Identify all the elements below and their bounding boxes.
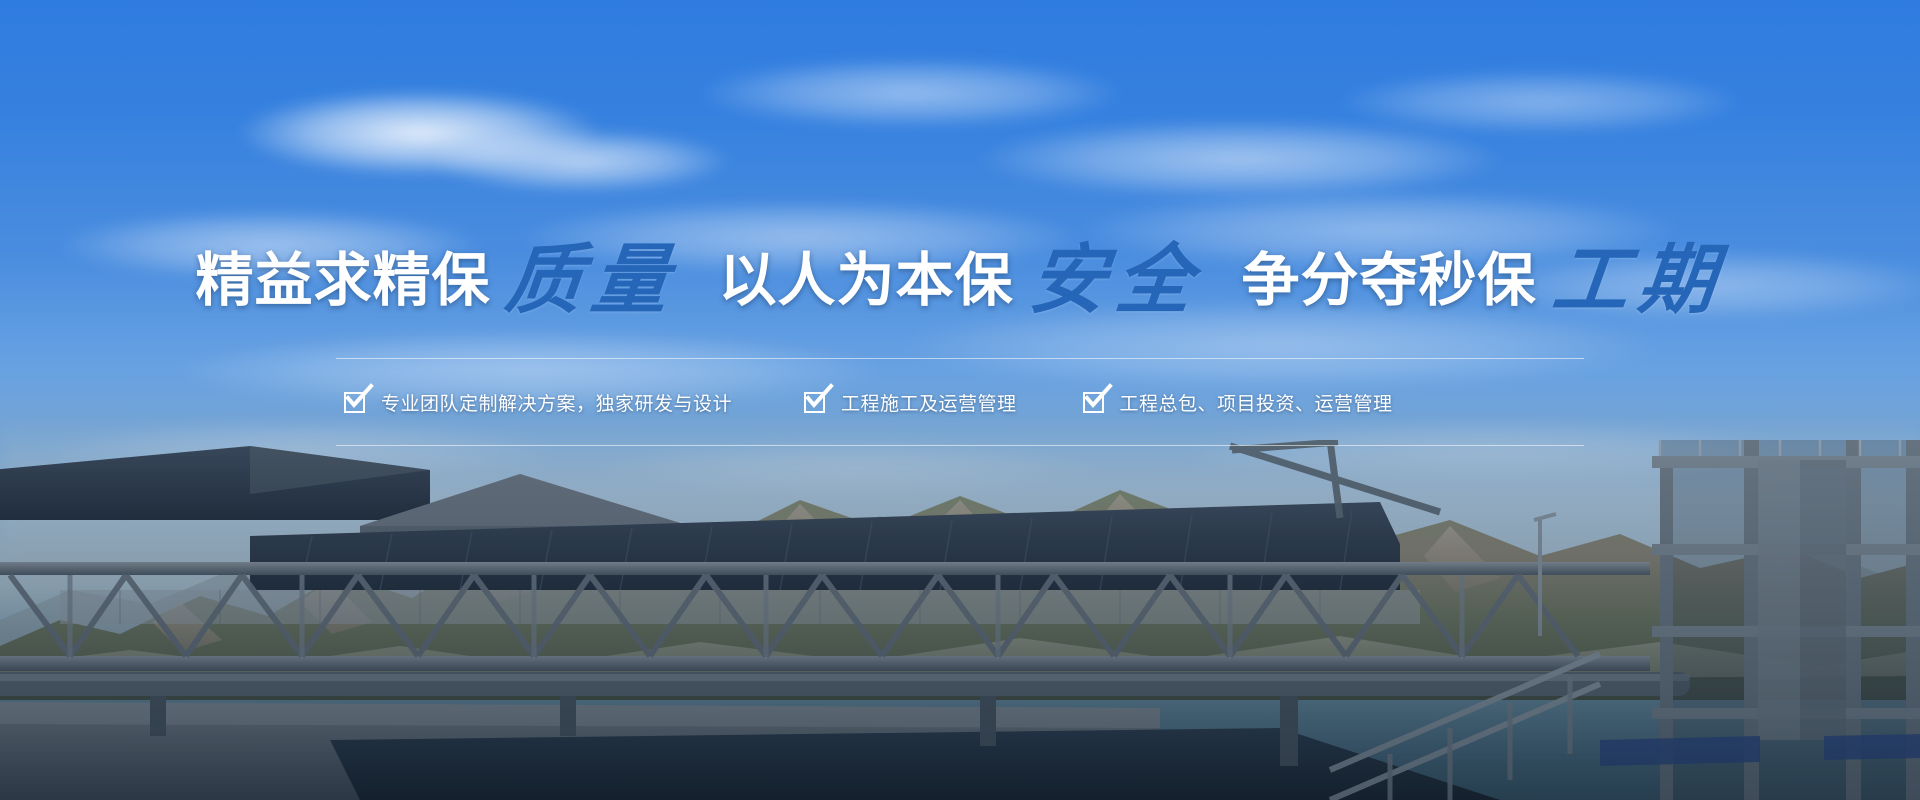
divider-bottom: [336, 445, 1584, 446]
feature-label-solutions: 专业团队定制解决方案，独家研发与设计: [381, 389, 732, 416]
industrial-plant-foreground: [0, 440, 1920, 800]
feature-item-construction: 工程施工及运营管理: [804, 389, 1017, 416]
feature-item-solutions: 专业团队定制解决方案，独家研发与设计: [344, 389, 732, 416]
checkbox-checked-icon: [804, 392, 825, 413]
headline-plain-quality: 精益求精保: [195, 251, 490, 309]
headline-accent-quality: 质量: [502, 242, 682, 318]
headline: 精益求精保 质量 以人为本保 安全 争分夺秒保 工期: [195, 236, 1724, 312]
feature-label-epc: 工程总包、项目投资、运营管理: [1120, 389, 1393, 416]
headline-plain-schedule: 争分夺秒保: [1242, 251, 1537, 309]
feature-label-construction: 工程施工及运营管理: [841, 389, 1017, 416]
checkbox-checked-icon: [344, 392, 365, 413]
checkbox-checked-icon: [1083, 392, 1104, 413]
feature-list: 专业团队定制解决方案，独家研发与设计 工程施工及运营管理 工程总包、项目投资、运…: [336, 359, 1584, 445]
headline-plain-safety: 以人为本保: [718, 251, 1013, 309]
headline-group-schedule: 争分夺秒保 工期: [1242, 236, 1725, 312]
headline-group-quality: 精益求精保 质量: [195, 236, 678, 312]
feature-item-epc: 工程总包、项目投资、运营管理: [1083, 389, 1393, 416]
headline-accent-schedule: 工期: [1549, 242, 1729, 318]
headline-group-safety: 以人为本保 安全: [718, 236, 1201, 312]
headline-accent-safety: 安全: [1026, 242, 1206, 318]
hero-banner: 精益求精保 质量 以人为本保 安全 争分夺秒保 工期 专业团队定制解决方案，独家…: [0, 0, 1920, 800]
